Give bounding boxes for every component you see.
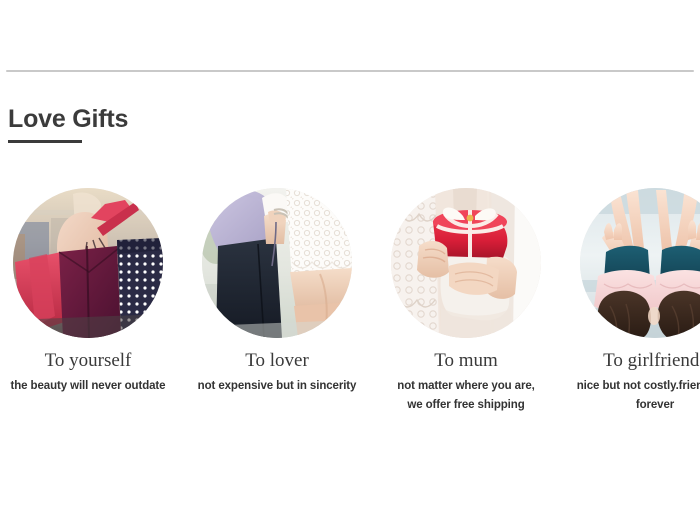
gift-card-subtitle: not matter where you are,we offer free s… <box>386 377 546 415</box>
gift-card-title: To lover <box>197 350 357 372</box>
gift-card-subtitle: the beauty will never outdate <box>8 377 168 396</box>
gift-card-title: To mum <box>386 350 546 372</box>
gift-card-caption: To girlfriends nice but not costly.frien… <box>575 350 700 415</box>
red-gift-box-photo[interactable] <box>391 188 541 338</box>
title-underline <box>8 140 82 143</box>
gift-card-to-mum[interactable]: To mum not matter where you are,we offer… <box>391 188 541 415</box>
section-header: Love Gifts <box>8 104 128 143</box>
gift-card-subtitle: nice but not costly.friendshipforever <box>575 377 700 415</box>
gift-card-to-girlfriends[interactable]: To girlfriends nice but not costly.frien… <box>580 188 700 415</box>
page-title: Love Gifts <box>8 104 128 134</box>
couple-standing-photo[interactable] <box>202 188 352 338</box>
two-girls-lying-photo[interactable] <box>580 188 700 338</box>
shopping-bags-photo[interactable] <box>13 188 163 338</box>
gift-category-list: To yourself the beauty will never outdat… <box>0 188 700 415</box>
top-divider <box>6 70 694 72</box>
gift-card-to-lover[interactable]: To lover not expensive but in sincerity <box>202 188 352 415</box>
gift-card-caption: To yourself the beauty will never outdat… <box>8 350 168 396</box>
gift-card-to-yourself[interactable]: To yourself the beauty will never outdat… <box>13 188 163 415</box>
love-gifts-banner: Love Gifts <box>0 0 700 510</box>
gift-card-caption: To mum not matter where you are,we offer… <box>386 350 546 415</box>
gift-card-caption: To lover not expensive but in sincerity <box>197 350 357 396</box>
gift-card-title: To yourself <box>8 350 168 372</box>
gift-card-subtitle: not expensive but in sincerity <box>197 377 357 396</box>
gift-card-title: To girlfriends <box>575 350 700 372</box>
